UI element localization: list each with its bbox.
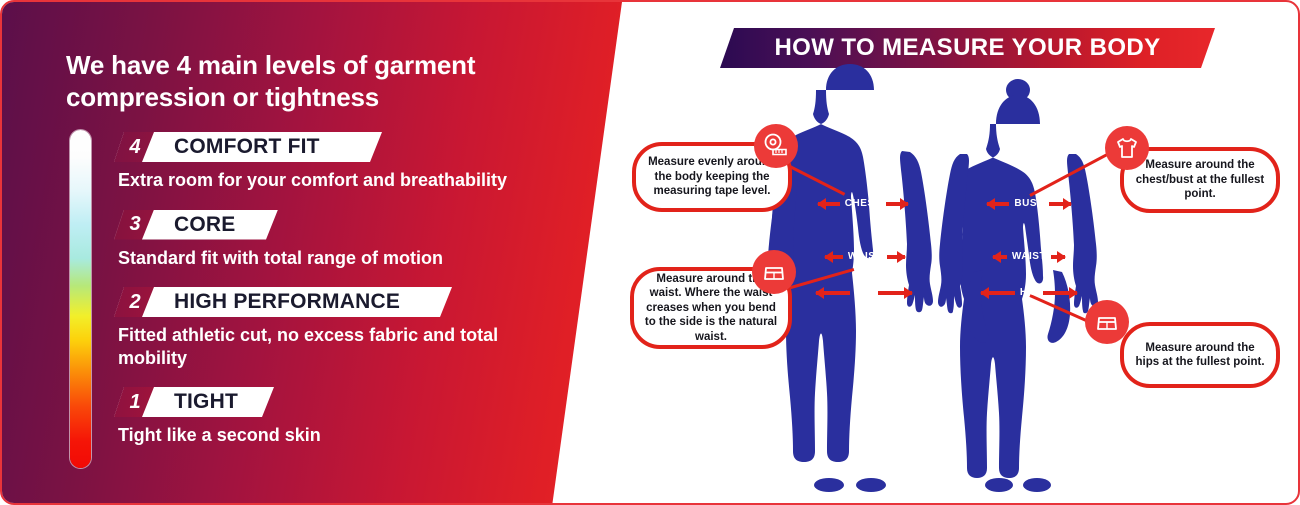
arrow-right-icon [886, 202, 908, 206]
measure-label: BUST [1009, 198, 1048, 209]
arrow-left-icon [987, 202, 1009, 206]
callout-text: Measure evenly around the body keeping t… [646, 155, 778, 198]
callout-text: Measure around the hips at the fullest p… [1134, 341, 1266, 370]
body-silhouettes [622, 2, 1300, 505]
arrow-right-icon [878, 291, 912, 295]
tshirt-glyph [1114, 135, 1140, 161]
level-number-visible: 1 [114, 387, 156, 417]
arrow-left-icon [981, 291, 1015, 295]
level-description: Standard fit with total range of motion [118, 247, 538, 270]
measuring-tape-icon [754, 124, 798, 168]
measure-label: WAIST [843, 251, 887, 262]
compression-scale-bar [70, 130, 91, 468]
level-title: TIGHT [164, 387, 250, 417]
level-title: COMFORT FIT [164, 132, 332, 162]
level-title: CORE [164, 210, 247, 240]
level-badge-4: 4 COMFORT FIT 4 [114, 132, 382, 162]
level-number-visible: 4 [114, 132, 156, 162]
waistband-glyph [761, 259, 787, 285]
measure-label: WAIST [1007, 251, 1051, 262]
badge-divider [156, 387, 164, 417]
arrow-right-icon [887, 255, 905, 259]
male-chest-label-row: CHEST [808, 198, 918, 209]
arrow-left-icon [825, 255, 843, 259]
level-number-visible: 3 [114, 210, 156, 240]
waistband-icon [752, 250, 796, 294]
female-silhouette [938, 79, 1098, 492]
arrow-left-icon [818, 202, 840, 206]
measure-label: HIP [850, 287, 878, 298]
level-item-2: 2 HIGH PERFORMANCE 2 Fitted athletic cut… [114, 287, 584, 369]
level-description: Tight like a second skin [118, 424, 538, 447]
level-title: HIGH PERFORMANCE [164, 287, 412, 317]
arrow-left-icon [816, 291, 850, 295]
callout-text: Measure around the chest/bust at the ful… [1134, 158, 1266, 201]
arrow-right-icon [1049, 202, 1071, 206]
measure-label: HIP [1015, 287, 1043, 298]
badge-divider [156, 210, 164, 240]
tshirt-icon [1105, 126, 1149, 170]
level-item-4: 4 COMFORT FIT 4 Extra room for your comf… [114, 132, 584, 192]
level-item-3: 3 CORE 3 Standard fit with total range o… [114, 210, 584, 270]
level-description: Extra room for your comfort and breathab… [118, 169, 538, 192]
shorts-icon [1085, 300, 1129, 344]
compression-levels-content: We have 4 main levels of garment compres… [2, 2, 622, 505]
level-badge-3: 3 CORE 3 [114, 210, 278, 240]
measuring-tape-glyph [762, 132, 790, 160]
level-badge-2: 2 HIGH PERFORMANCE 2 [114, 287, 452, 317]
shorts-glyph [1094, 309, 1120, 335]
level-description: Fitted athletic cut, no excess fabric an… [118, 324, 538, 369]
arrow-right-icon [1043, 291, 1077, 295]
measure-body-panel: HOW TO MEASURE YOUR BODY [622, 2, 1300, 505]
infographic-frame: We have 4 main levels of garment compres… [0, 0, 1300, 505]
female-hip-label-row: HIP [970, 287, 1088, 298]
badge-divider [156, 132, 164, 162]
level-badge-1: 1 TIGHT 1 [114, 387, 274, 417]
level-number-visible: 2 [114, 287, 156, 317]
arrow-left-icon [993, 255, 1007, 259]
female-waist-label-row: WAIST [981, 251, 1077, 262]
arrow-right-icon [1051, 255, 1065, 259]
measure-label: CHEST [840, 198, 886, 209]
page-title: We have 4 main levels of garment compres… [66, 50, 546, 113]
levels-list: 4 COMFORT FIT 4 Extra room for your comf… [114, 132, 584, 453]
male-hip-label-row: HIP [806, 287, 922, 298]
level-item-1: 1 TIGHT 1 Tight like a second skin [114, 387, 584, 447]
badge-divider [156, 287, 164, 317]
female-bust-label-row: BUST [977, 198, 1081, 209]
male-waist-label-row: WAIST [814, 251, 916, 262]
callout-hips: Measure around the hips at the fullest p… [1120, 322, 1280, 388]
